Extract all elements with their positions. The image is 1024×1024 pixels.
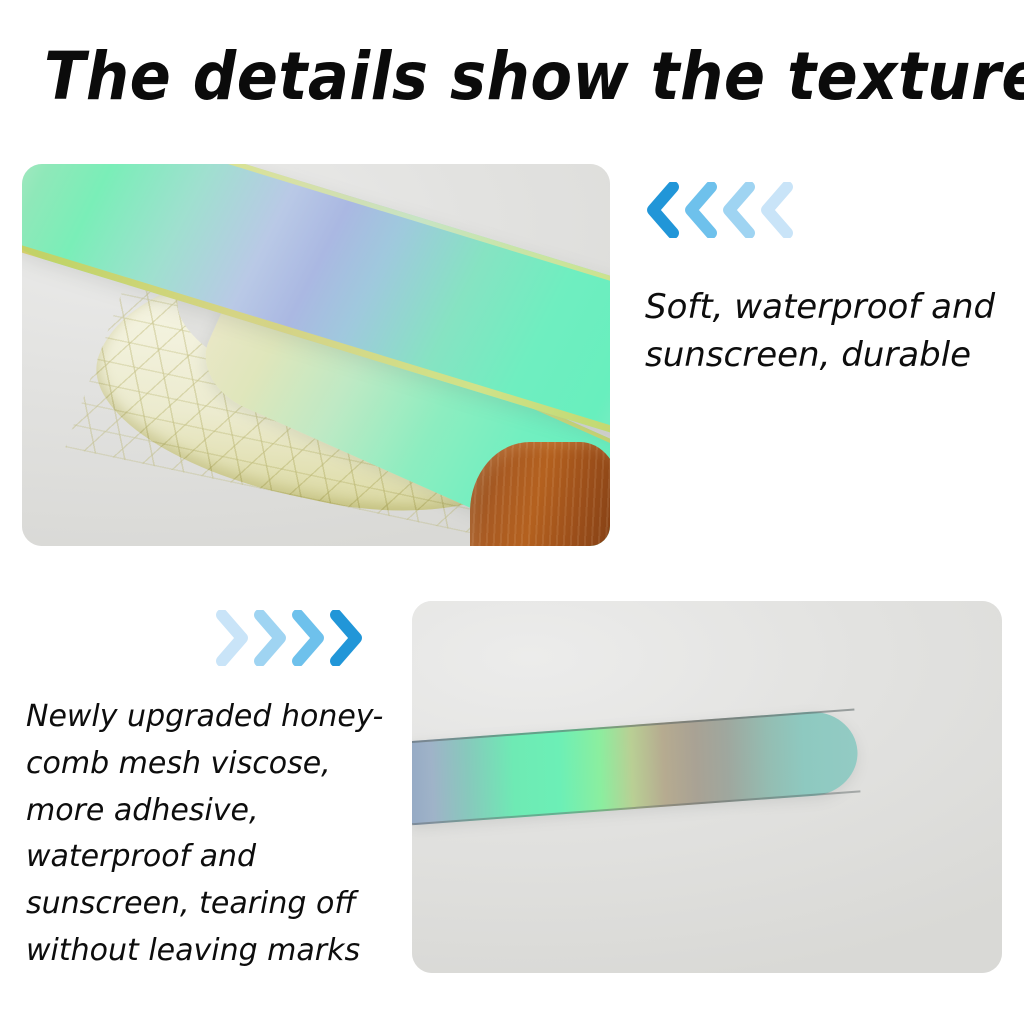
product-photo-card-bottom [412,601,1002,973]
chevron-left-icon [757,182,793,238]
chevron-group-right [214,610,364,666]
chevron-right-icon [290,610,326,666]
chevron-right-icon [214,610,250,666]
product-infographic: { "page": { "title": "The details show t… [0,0,1024,1024]
product-photo-card-top [22,164,610,546]
chevron-left-icon [681,182,717,238]
chevron-group-left [643,182,793,238]
chevron-left-icon [643,182,679,238]
finger-holding-tape [470,442,610,546]
holographic-tape-strip [412,709,860,826]
tape-strip-illustration [412,601,1002,973]
page-title: The details show the texture [44,42,909,111]
chevron-right-icon [328,610,364,666]
caption-bottom-left: Newly upgraded honey-comb mesh viscose, … [26,694,398,975]
tape-loop-illustration [22,164,610,546]
chevron-right-icon [252,610,288,666]
caption-top-right: Soft, waterproof and sunscreen, durable [645,283,1005,380]
chevron-left-icon [719,182,755,238]
